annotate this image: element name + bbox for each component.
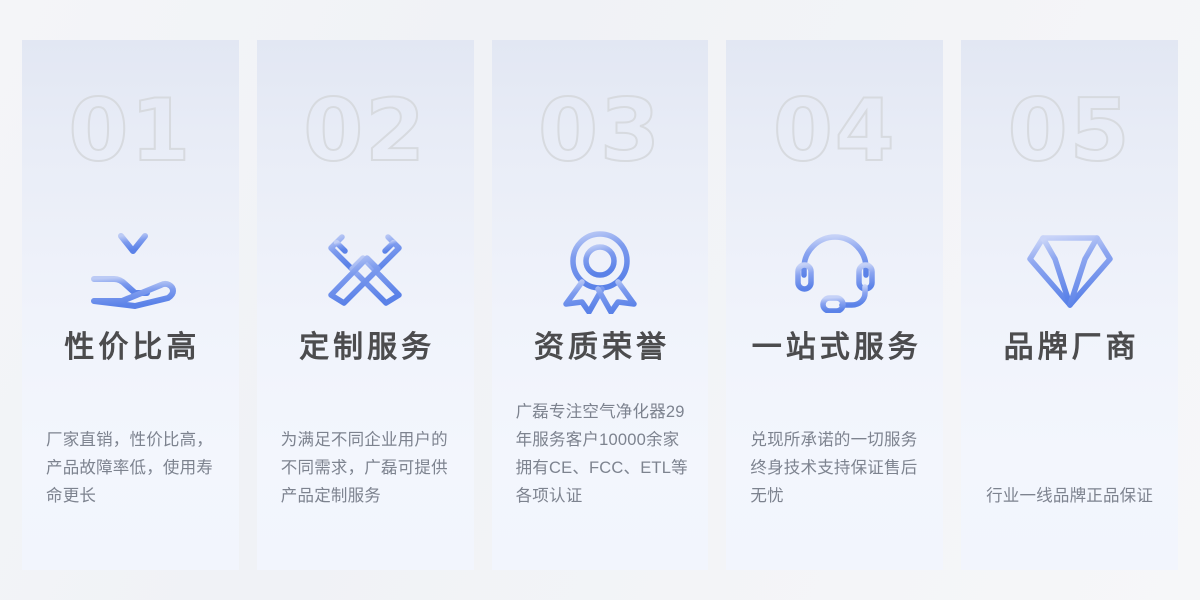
- card-description-3: 广磊专注空气净化器29年服务客户10000余家拥有CE、FCC、ETL等各项认证: [516, 398, 693, 510]
- card-title-4: 一站式服务: [726, 328, 943, 367]
- hand-holding-yuan-icon: [22, 223, 239, 319]
- card-title-5: 品牌厂商: [961, 328, 1178, 367]
- card-description-4: 兑现所承诺的一切服务终身技术支持保证售后无忧: [750, 426, 927, 510]
- card-description-2: 为满足不同企业用户的不同需求，广磊可提供产品定制服务: [281, 426, 458, 510]
- award-ribbon-icon: [492, 223, 709, 319]
- card-title-2: 定制服务: [257, 328, 474, 367]
- diamond-icon: [961, 223, 1178, 319]
- feature-card-2[interactable]: 02: [257, 40, 474, 570]
- feature-card-4[interactable]: 04 一站式服务 兑现所承诺的一: [726, 40, 943, 570]
- card-number-03: 03: [492, 88, 709, 174]
- card-number-02: 02: [257, 88, 474, 174]
- feature-card-list: 01: [22, 40, 1178, 570]
- card-number-05: 05: [961, 88, 1178, 174]
- card-title-3: 资质荣誉: [492, 328, 709, 367]
- crossed-pencils-icon: [257, 223, 474, 319]
- card-title-1: 性价比高: [22, 328, 239, 367]
- feature-card-3[interactable]: 03 资质荣誉 广磊专注空气净化器29年服务客户100: [492, 40, 709, 570]
- card-description-1: 厂家直销，性价比高，产品故障率低，使用寿命更长: [46, 426, 223, 510]
- card-number-01: 01: [22, 88, 239, 174]
- feature-card-1[interactable]: 01: [22, 40, 239, 570]
- card-description-5: 行业一线品牌正品保证: [969, 482, 1170, 510]
- feature-card-5[interactable]: 05 品牌厂商 行业一线品牌正品保证: [961, 40, 1178, 570]
- headset-icon: [726, 223, 943, 319]
- card-number-04: 04: [726, 88, 943, 174]
